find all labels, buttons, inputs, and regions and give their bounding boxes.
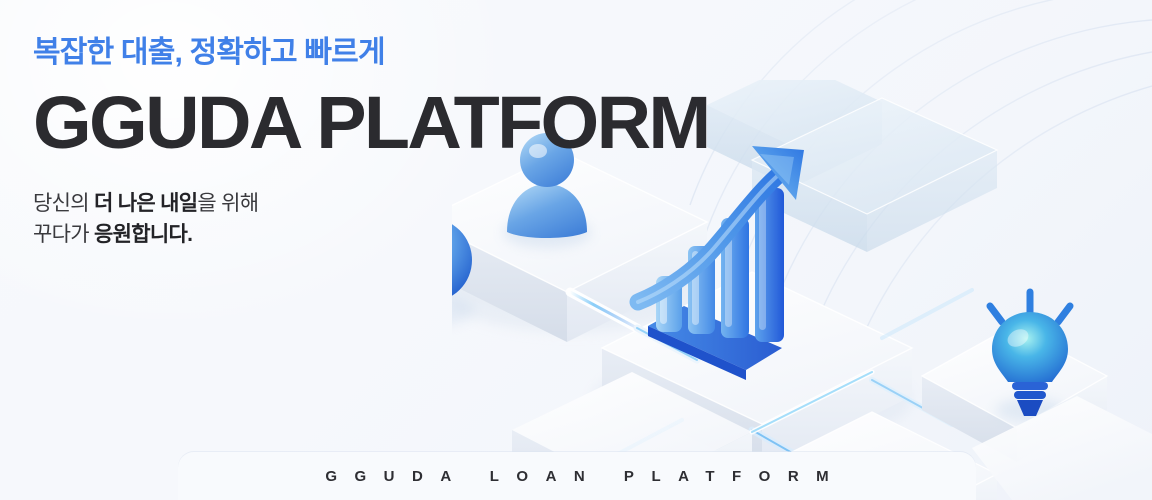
- subtitle-line2-bold: 응원합니다.: [94, 223, 192, 246]
- hero-text-column: 복잡한 대출, 정확하고 빠르게 GGUDA PLATFORM 당신의 더 나은…: [33, 34, 593, 251]
- hero-tagline: 복잡한 대출, 정확하고 빠르게: [33, 34, 593, 72]
- subtitle-line2-regular: 꾸다가: [33, 223, 94, 246]
- chart-bar-4: [755, 188, 784, 342]
- hero-subtitle: 당신의 더 나은 내일을 위해 꾸다가 응원합니다.: [33, 188, 593, 252]
- subtitle-line1-tail: 을 위해: [197, 192, 258, 215]
- bottom-label-bar: GGUDA LOAN PLATFORM: [178, 452, 976, 500]
- page-title: GGUDA PLATFORM: [33, 86, 604, 160]
- bottom-label-text: GGUDA LOAN PLATFORM: [308, 468, 846, 485]
- hero-subtitle-line-1: 당신의 더 나은 내일을 위해: [33, 188, 593, 220]
- subtitle-line1-regular: 당신의: [33, 192, 94, 215]
- hero-banner: 복잡한 대출, 정확하고 빠르게 GGUDA PLATFORM 당신의 더 나은…: [0, 0, 1152, 500]
- subtitle-line1-bold: 더 나은 내일: [94, 192, 197, 215]
- hero-subtitle-line-2: 꾸다가 응원합니다.: [33, 219, 593, 251]
